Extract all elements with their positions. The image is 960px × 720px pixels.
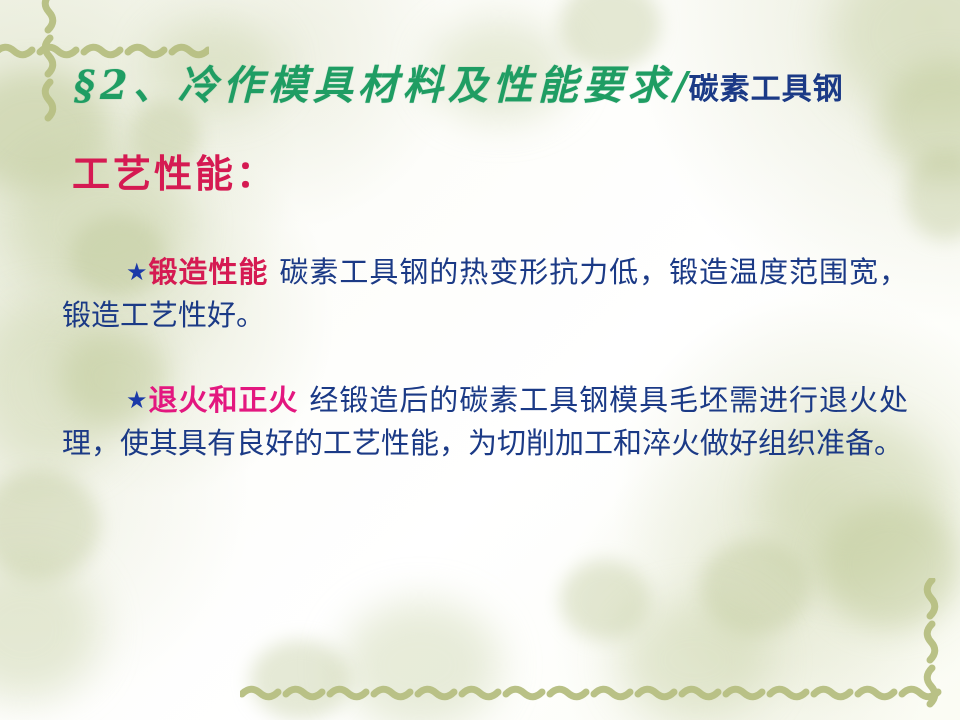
foliage-blob xyxy=(905,150,960,240)
foliage-blob xyxy=(560,560,650,640)
decor-wave-top-left-horizontal xyxy=(0,36,209,62)
foliage-blob xyxy=(700,540,810,635)
foliage-blob xyxy=(560,0,660,70)
foliage-blob xyxy=(820,500,960,630)
foliage-blob xyxy=(880,60,960,180)
title-separator: / xyxy=(673,63,689,108)
paragraph-keyword: 退火和正火 xyxy=(149,385,299,417)
paragraph-keyword: 锻造性能 xyxy=(149,257,269,289)
paragraph-forging: ★锻造性能碳素工具钢的热变形抗力低，锻造温度范围宽，锻造工艺性好。 xyxy=(62,252,908,338)
slide-canvas: §2、冷作模具材料及性能要求/碳素工具钢 工艺性能： ★锻造性能碳素工具钢的热变… xyxy=(0,0,960,720)
title-subtitle: 碳素工具钢 xyxy=(689,73,844,106)
star-bullet-icon: ★ xyxy=(126,260,149,286)
foliage-blob xyxy=(340,600,500,720)
section-heading: 工艺性能： xyxy=(72,156,277,194)
foliage-blob xyxy=(830,0,960,120)
foliage-blob xyxy=(250,640,350,720)
paragraph-annealing: ★退火和正火经锻造后的碳素工具钢模具毛坯需进行退火处理，使其具有良好的工艺性能，… xyxy=(62,380,908,466)
body-content: ★锻造性能碳素工具钢的热变形抗力低，锻造温度范围宽，锻造工艺性好。 ★退火和正火… xyxy=(62,252,908,466)
decor-wave-top-left-vertical xyxy=(36,0,62,140)
foliage-blob xyxy=(620,600,770,720)
slide-title: §2、冷作模具材料及性能要求/碳素工具钢 xyxy=(74,66,844,106)
foliage-blob xyxy=(0,560,100,700)
decor-wave-bottom-horizontal xyxy=(240,678,956,704)
foliage-blob xyxy=(0,470,100,580)
title-calligraphic: §2、冷作模具材料及性能要求 xyxy=(74,62,673,109)
decor-wave-right-vertical xyxy=(918,578,944,720)
star-bullet-icon: ★ xyxy=(126,388,149,414)
